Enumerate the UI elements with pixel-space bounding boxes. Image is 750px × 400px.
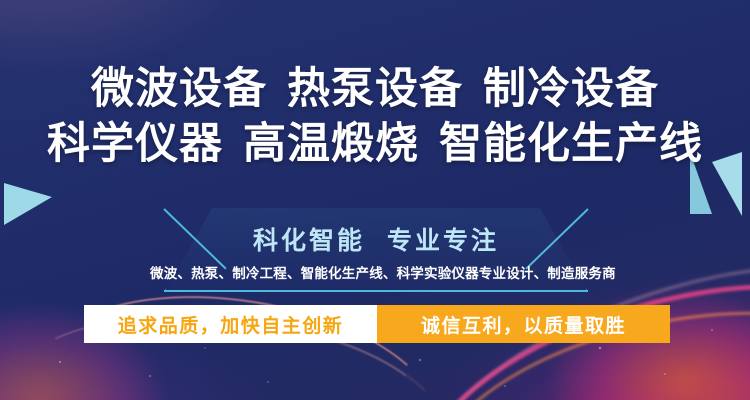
headline-line-1: 微波设备热泵设备制冷设备 [0,62,750,117]
hexagon-edge-bottom [164,290,588,292]
headline-line-2: 科学仪器高温煅烧智能化生产线 [0,117,750,172]
slogan-right: 诚信互利，以质量取胜 [377,305,670,343]
slogan-bar: 追求品质，加快自主创新 诚信互利，以质量取胜 [84,305,670,343]
headline-line2-word2: 高温煅烧 [243,120,419,168]
hexagon-title: 科化智能专业专注 [164,221,588,257]
hexagon-subtitle: 微波、热泵、制冷工程、智能化生产线、科学实验仪器专业设计、制造服务商 [150,262,602,282]
hexagon-title-left: 科化智能 [253,227,365,255]
triangle-arrow-left-icon [4,183,52,225]
headline-line2-word3: 智能化生产线 [439,120,703,168]
headline: 微波设备热泵设备制冷设备 科学仪器高温煅烧智能化生产线 [0,62,750,172]
headline-line1-word1: 微波设备 [91,65,267,113]
headline-line1-word3: 制冷设备 [483,65,659,113]
hexagon-title-right: 专业专注 [387,227,499,255]
headline-line1-word2: 热泵设备 [287,65,463,113]
slogan-left: 追求品质，加快自主创新 [84,305,377,343]
promo-banner: 微波设备热泵设备制冷设备 科学仪器高温煅烧智能化生产线 科化智能专业专注 微波、… [0,0,750,400]
headline-line2-word1: 科学仪器 [47,120,223,168]
